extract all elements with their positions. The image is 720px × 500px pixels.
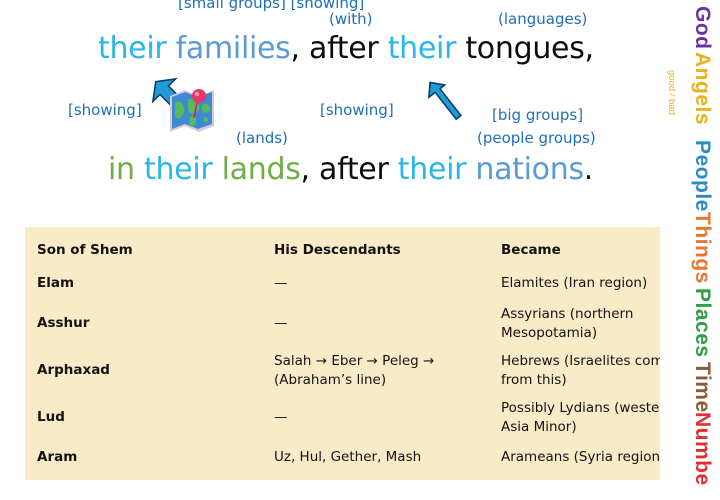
cell-son-name: Elam xyxy=(25,267,268,300)
cell-became: Elamites (Iran region) xyxy=(495,267,660,300)
category-good-bad: good / bad xyxy=(666,70,677,115)
verse-line-2: in their lands, after their nations. xyxy=(108,152,593,187)
verse2-word-6: . xyxy=(584,152,593,187)
category-number: Numbe xyxy=(690,412,714,486)
verse1-word-0: their xyxy=(98,31,176,66)
annotation-languages: (languages) xyxy=(498,12,587,28)
column-header-son-of-shem: Son of Shem xyxy=(25,227,268,267)
verse2-word-1: their xyxy=(144,152,222,187)
table-row: Arphaxad Salah → Eber → Peleg → (Abraham… xyxy=(25,347,660,394)
verse1-word-3: their xyxy=(388,31,466,66)
verse1-word-1: families xyxy=(176,31,291,66)
world-map-with-pin-emoji xyxy=(168,84,222,136)
teaching-slide: [small groups] [showing] (with) (languag… xyxy=(0,0,660,500)
cell-son-name: Arphaxad xyxy=(25,347,268,394)
verse2-word-3: , after xyxy=(301,152,398,187)
cell-became: Arameans (Syria region) xyxy=(495,441,660,474)
arrow-turn-up-left-icon xyxy=(428,76,462,124)
cell-son-name: Asshur xyxy=(25,300,268,347)
category-people: People xyxy=(690,140,714,212)
cell-descendants: Uz, Hul, Gether, Mash xyxy=(268,441,495,474)
annotation-people-groups: (people groups) xyxy=(477,131,596,147)
verse2-word-2: lands xyxy=(222,152,301,187)
sons-of-shem-table: Son of Shem His Descendants Became Elam … xyxy=(25,227,660,480)
category-god: God xyxy=(690,6,714,50)
table-row: Asshur — Assyrians (northern Mesopotamia… xyxy=(25,300,660,347)
verse2-word-4: their xyxy=(398,152,476,187)
table-header-row: Son of Shem His Descendants Became xyxy=(25,227,660,267)
annotation-lands: (lands) xyxy=(236,131,288,147)
category-angels: Angels xyxy=(690,52,714,125)
category-things: Things xyxy=(690,212,714,284)
cell-descendants: Salah → Eber → Peleg → (Abraham’s line) xyxy=(268,347,495,394)
cell-son-name: Lud xyxy=(25,394,268,441)
annotation-with: (with) xyxy=(329,12,373,28)
column-header-became: Became xyxy=(495,227,660,267)
category-strip: God Angels good / bad People Things Plac… xyxy=(660,0,720,500)
cell-descendants: — xyxy=(268,267,495,300)
verse-line-1: their families, after their tongues, xyxy=(98,31,594,66)
category-time: Time xyxy=(690,362,714,413)
cell-became: Hebrews (Israelites come from this) xyxy=(495,347,660,394)
table-row: Lud — Possibly Lydians (western Asia Min… xyxy=(25,394,660,441)
verse2-word-0: in xyxy=(108,152,144,187)
category-places: Places xyxy=(690,288,714,358)
cell-descendants: — xyxy=(268,300,495,347)
annotation-big-groups: [big groups] xyxy=(492,108,583,124)
verse1-word-2: , after xyxy=(291,31,388,66)
cell-descendants: — xyxy=(268,394,495,441)
column-header-his-descendants: His Descendants xyxy=(268,227,495,267)
cell-son-name: Aram xyxy=(25,441,268,474)
annotation-showing-middle: [showing] xyxy=(320,103,394,119)
verse1-word-4: tongues, xyxy=(465,31,593,66)
table: Son of Shem His Descendants Became Elam … xyxy=(25,227,660,474)
table-row: Elam — Elamites (Iran region) xyxy=(25,267,660,300)
cell-became: Assyrians (northern Mesopotamia) xyxy=(495,300,660,347)
table-row: Aram Uz, Hul, Gether, Mash Arameans (Syr… xyxy=(25,441,660,474)
verse2-word-5: nations xyxy=(475,152,583,187)
annotation-showing-left: [showing] xyxy=(68,103,142,119)
cell-became: Possibly Lydians (western Asia Minor) xyxy=(495,394,660,441)
